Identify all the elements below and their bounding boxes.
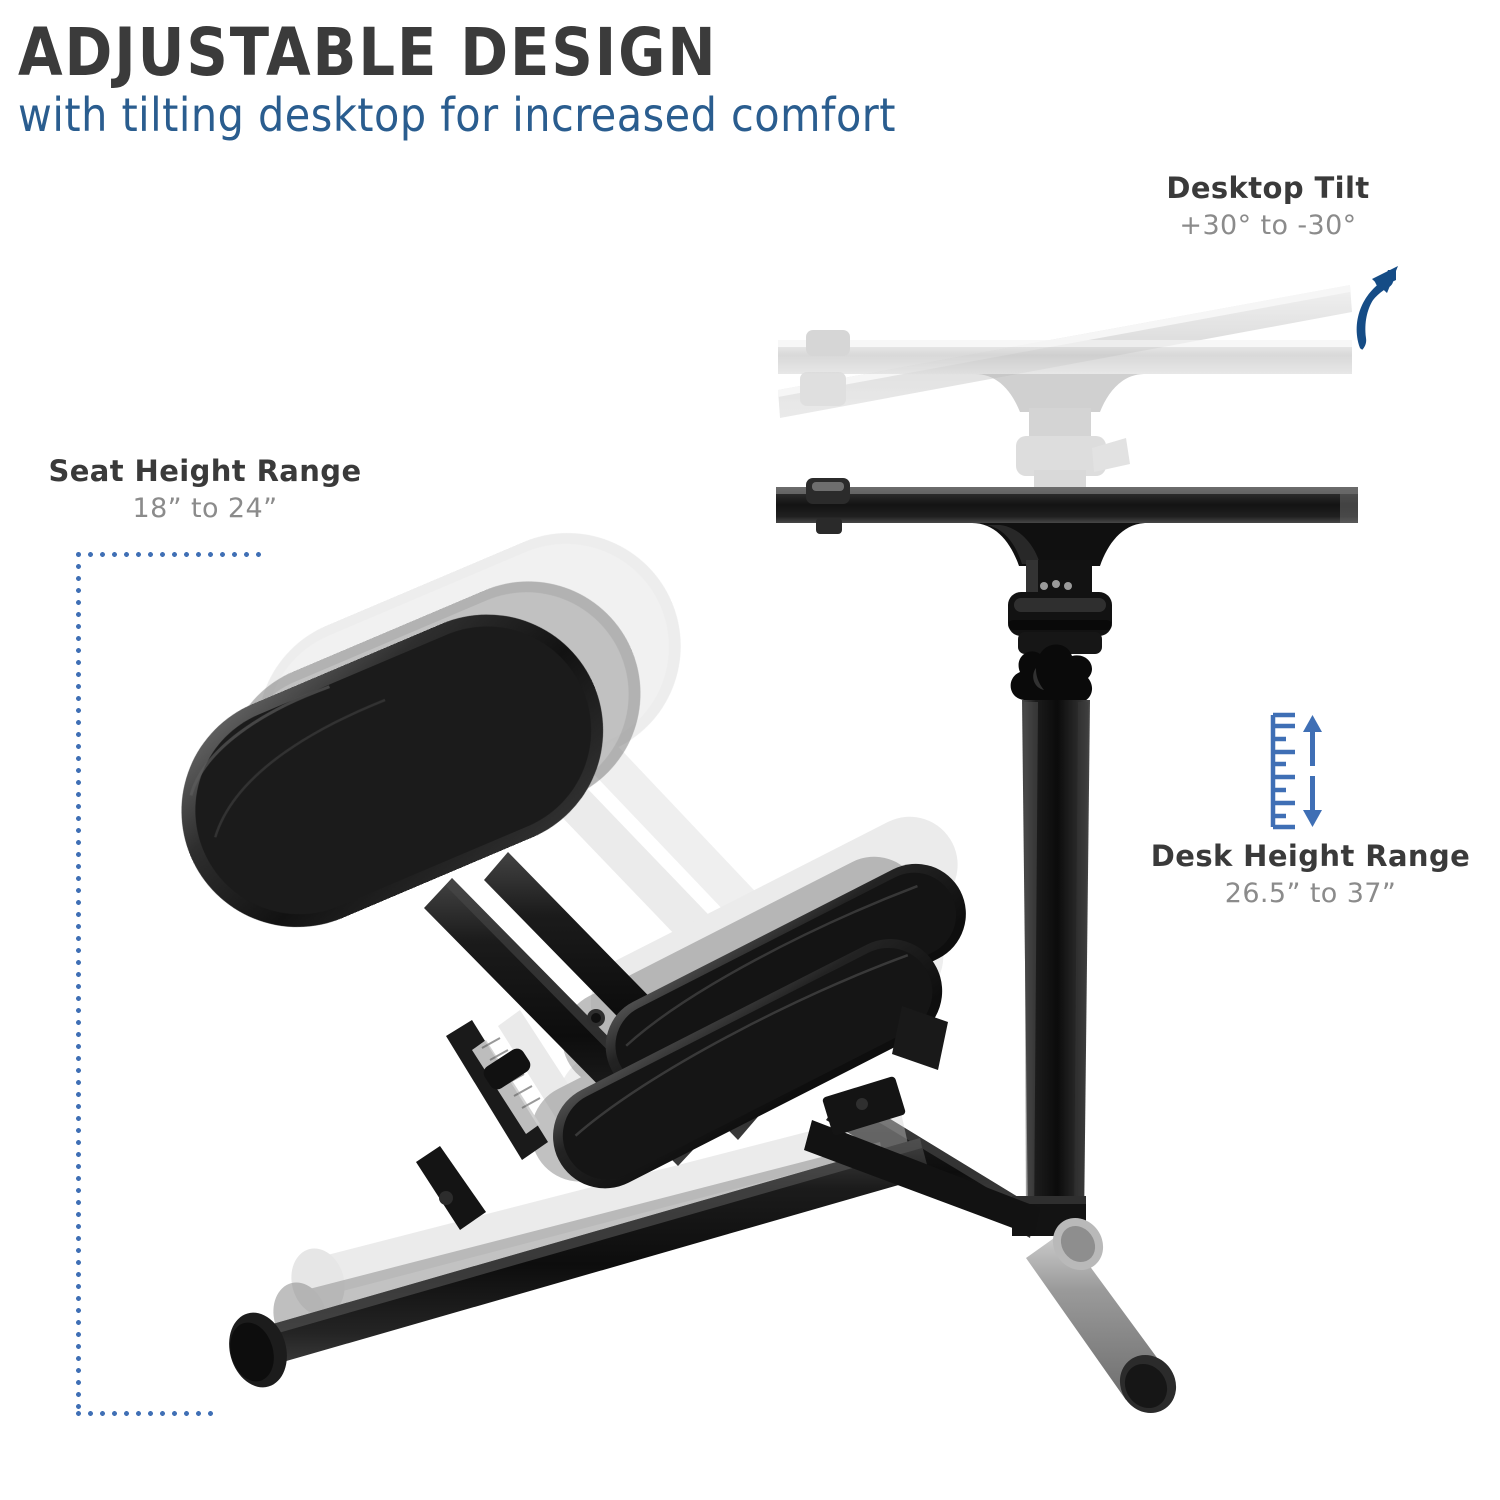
desktop-tilt-callout: Desktop Tilt +30° to -30°: [1148, 172, 1388, 243]
seat-height-value: 18” to 24”: [40, 492, 370, 526]
curved-rotation-arrow-icon: [1340, 262, 1445, 367]
desktop-tilt-value: +30° to -30°: [1148, 209, 1388, 243]
desk-column: [1022, 700, 1090, 1225]
desk-height-label: Desk Height Range: [1138, 840, 1483, 873]
infographic-canvas: ADJUSTABLE DESIGN with tilting desktop f…: [0, 0, 1500, 1500]
ruler-up-down-arrows-icon: [1268, 712, 1328, 830]
seat-height-bracket: [76, 552, 262, 1416]
bracket-left-line: [76, 552, 81, 1416]
desktop-tilt-label: Desktop Tilt: [1148, 172, 1388, 205]
page-title: ADJUSTABLE DESIGN: [18, 14, 717, 91]
desk-height-value: 26.5” to 37”: [1138, 877, 1483, 911]
page-subtitle: with tilting desktop for increased comfo…: [18, 88, 896, 142]
seat-height-label: Seat Height Range: [40, 455, 370, 488]
desk-height-callout: Desk Height Range 26.5” to 37”: [1138, 840, 1483, 911]
desk-base-foot: [1026, 1208, 1187, 1424]
bracket-top-line: [76, 552, 262, 557]
seat-height-callout: Seat Height Range 18” to 24”: [40, 455, 370, 526]
desk-tilt-yoke: [972, 523, 1147, 602]
bracket-bottom-line: [76, 1411, 216, 1416]
